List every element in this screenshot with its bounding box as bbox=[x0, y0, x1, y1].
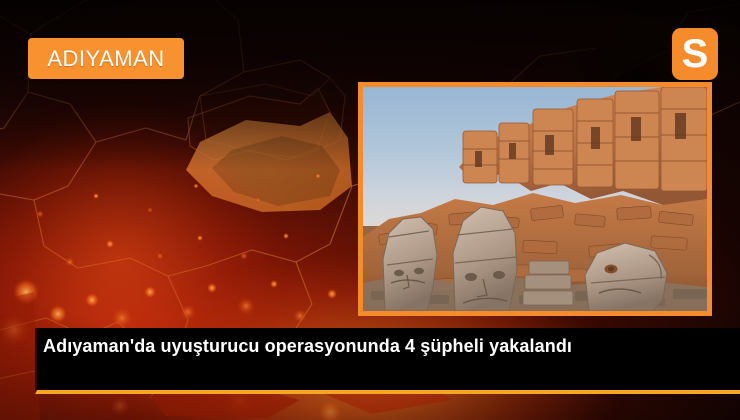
city-badge-label: ADIYAMAN bbox=[47, 46, 164, 72]
city-badge: ADIYAMAN bbox=[28, 38, 184, 79]
caption-bar: Adıyaman'da uyuşturucu operasyonunda 4 ş… bbox=[35, 328, 740, 394]
article-photo-frame bbox=[358, 82, 712, 316]
caption-line-1: Adıyaman'da uyuşturucu operasyonunda 4 ş… bbox=[43, 336, 484, 356]
s-logo[interactable]: S bbox=[672, 28, 718, 80]
news-card: ADIYAMAN S bbox=[0, 0, 740, 420]
caption-line-2: yakalandı bbox=[489, 336, 572, 356]
s-logo-letter: S bbox=[682, 34, 709, 74]
article-photo bbox=[363, 87, 707, 311]
caption-headline: Adıyaman'da uyuşturucu operasyonunda 4 ş… bbox=[43, 334, 732, 359]
